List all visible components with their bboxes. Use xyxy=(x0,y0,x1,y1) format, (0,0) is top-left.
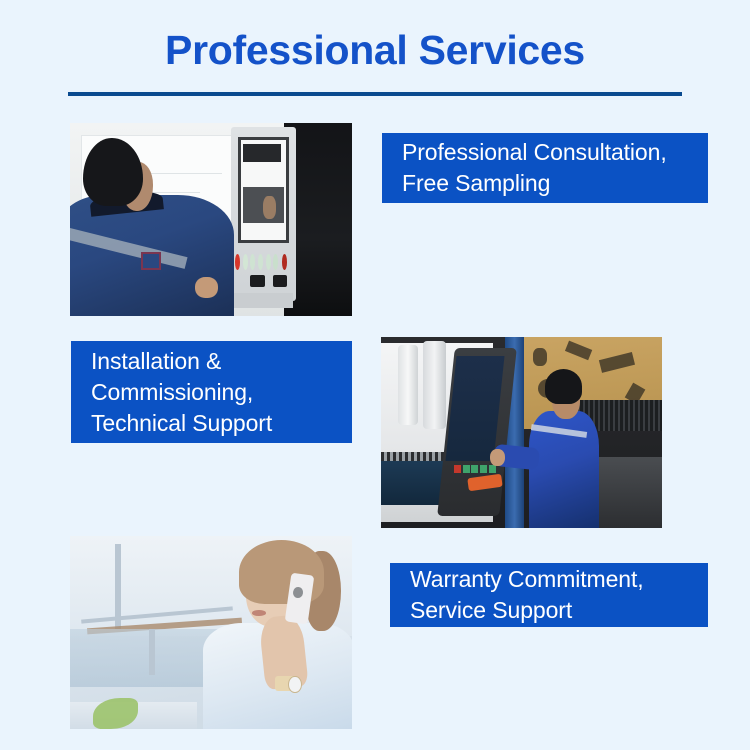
technician-hand xyxy=(195,277,218,298)
screen-reflection xyxy=(263,196,276,219)
green-button xyxy=(489,465,496,473)
service-banner-text: Warranty Commitment, Service Support xyxy=(390,564,644,626)
extraction-duct xyxy=(398,345,418,425)
extraction-duct xyxy=(423,341,445,429)
control-button-row xyxy=(235,254,294,269)
green-button xyxy=(273,254,278,269)
operator-figure xyxy=(522,369,615,528)
page-title: Professional Services xyxy=(0,26,750,75)
green-button xyxy=(258,254,263,269)
technician-hair xyxy=(83,138,142,205)
operator-hand xyxy=(490,449,505,466)
red-button xyxy=(235,254,240,269)
lips xyxy=(252,610,265,616)
service-banner-installation: Installation & Commissioning, Technical … xyxy=(71,341,352,443)
machine-keyboard xyxy=(231,293,293,308)
title-divider xyxy=(68,92,682,96)
screen-header-bar xyxy=(243,144,281,161)
glass-mullion xyxy=(149,629,155,675)
technician-figure xyxy=(70,138,234,316)
cardboard-marking xyxy=(533,348,547,365)
console-button-row xyxy=(454,465,493,473)
green-button xyxy=(266,254,271,269)
operator-hair xyxy=(545,369,582,404)
service-photo-consultation xyxy=(70,123,352,316)
jacket-badge xyxy=(141,252,161,270)
wrist-watch xyxy=(288,676,301,693)
service-banner-text: Installation & Commissioning, Technical … xyxy=(71,346,272,439)
service-photo-installation xyxy=(381,337,662,528)
photo-scene-service-rep-on-phone xyxy=(70,536,352,729)
green-button xyxy=(480,465,487,473)
red-button xyxy=(282,254,287,269)
green-button xyxy=(471,465,478,473)
service-banner-warranty: Warranty Commitment, Service Support xyxy=(390,563,708,627)
service-banner-text: Professional Consultation, Free Sampling xyxy=(382,137,667,199)
green-button xyxy=(250,254,255,269)
photo-scene-laser-machine-operator xyxy=(381,337,662,528)
green-button xyxy=(243,254,248,269)
rep-hair xyxy=(239,540,324,604)
black-button xyxy=(250,275,264,287)
red-button xyxy=(454,465,461,473)
black-button xyxy=(273,275,287,287)
service-banner-consultation: Professional Consultation, Free Sampling xyxy=(382,133,708,203)
service-rep-figure xyxy=(197,540,352,729)
service-photo-warranty xyxy=(70,536,352,729)
green-button xyxy=(463,465,470,473)
photo-scene-cnc-operator xyxy=(70,123,352,316)
